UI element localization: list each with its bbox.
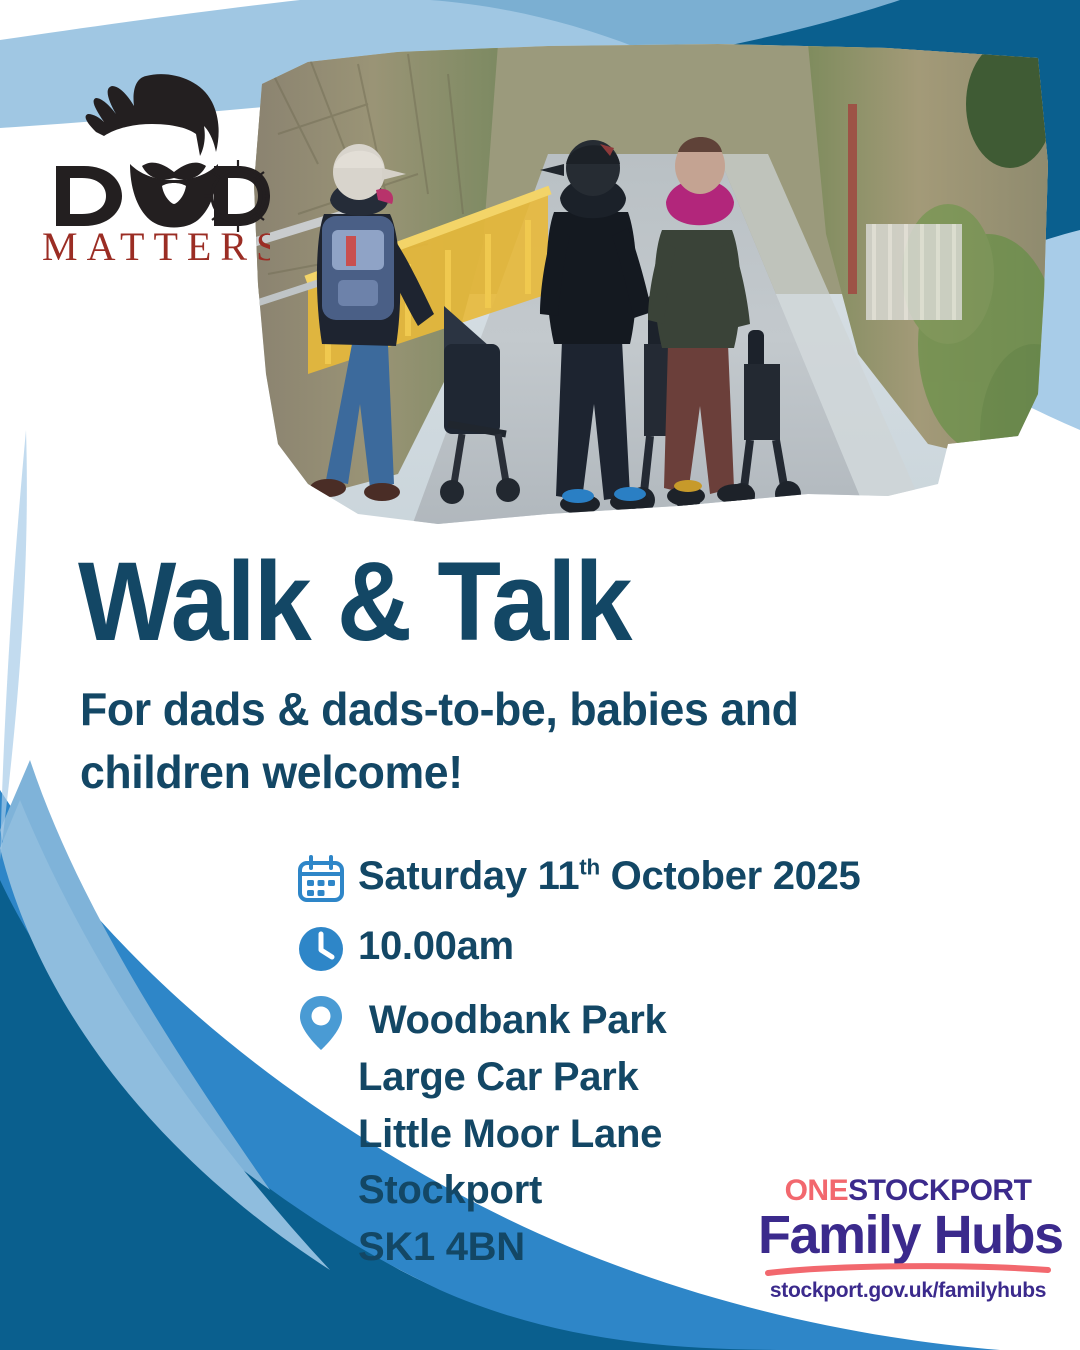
detail-row-date: Saturday 11th October 2025 [296,852,1016,904]
hubs-top-line: ONESTOCKPORT [758,1176,1058,1206]
letter-d-first [56,166,122,226]
event-date-suffix: October 2025 [600,854,861,898]
event-time: 10.00am [358,922,514,969]
address-line: Large Car Park [358,1049,666,1106]
hubs-underline-swoosh [765,1263,1051,1277]
event-date-ordinal: th [579,855,600,880]
walking-dads-photo [248,44,1054,564]
clock-icon [296,922,358,974]
hubs-stockport-text: STOCKPORT [848,1174,1031,1207]
event-date-prefix: Saturday 11 [358,854,579,898]
calendar-icon [296,852,358,904]
detail-row-time: 10.00am [296,922,1016,974]
hubs-url-text: stockport.gov.uk/familyhubs [758,1279,1058,1303]
address-line: Woodbank Park [358,992,666,1049]
headline-text: Walk & Talk [78,546,915,658]
hubs-family-hubs-text: Family Hubs [758,1208,1058,1263]
poster-canvas: MATTERS Walk & Talk For dads & dads-to-b… [0,0,1080,1350]
hair-silhouette [86,74,219,156]
map-pin-icon [296,992,358,1052]
event-date: Saturday 11th October 2025 [358,852,861,899]
address-line: Little Moor Lane [358,1106,666,1163]
matters-wordmark: MATTERS [42,224,270,266]
address-line: SK1 4BN [358,1219,666,1276]
address-line: Stockport [358,1162,666,1219]
subtitle-line-2: children welcome! [80,741,934,804]
onestockport-family-hubs-logo: ONESTOCKPORT Family Hubs stockport.gov.u… [758,1176,1058,1308]
hubs-one-text: ONE [785,1174,849,1207]
event-address: Woodbank Park Large Car Park Little Moor… [358,992,666,1276]
page-title: Walk & Talk [78,546,978,658]
subtitle-line-1: For dads & dads-to-be, babies and [80,678,934,741]
subtitle: For dads & dads-to-be, babies and childr… [80,678,960,805]
dad-matters-logo: MATTERS [38,46,270,266]
